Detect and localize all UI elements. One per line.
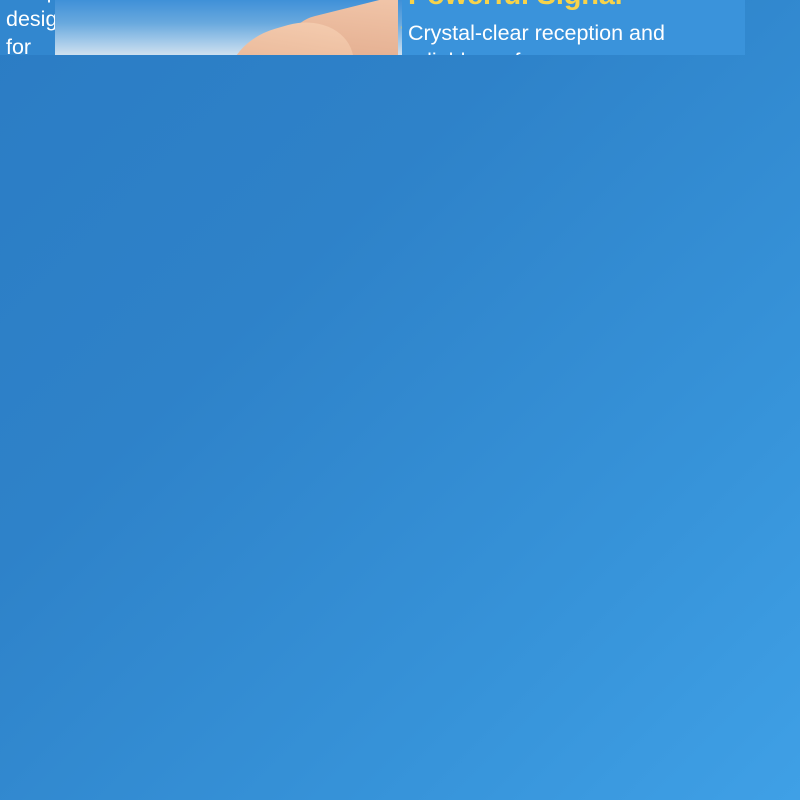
signal-body-line-1: Crystal-clear reception and: [408, 20, 739, 48]
feature-card-signal: Powerful Signal Crystal-clear reception …: [402, 0, 745, 55]
signal-body-line-2: reliable performance.: [408, 48, 739, 55]
signal-heading: Powerful Signal: [408, 0, 739, 11]
feature-card-installation: Effortolest Installation Lightweight and…: [0, 0, 55, 55]
feature-photo-installation: [55, 0, 398, 55]
feature-grid: Effortolest Installation Lightweight and…: [0, 0, 800, 800]
installation-body-line-2: design for quick, tool-free setup.: [6, 6, 49, 55]
